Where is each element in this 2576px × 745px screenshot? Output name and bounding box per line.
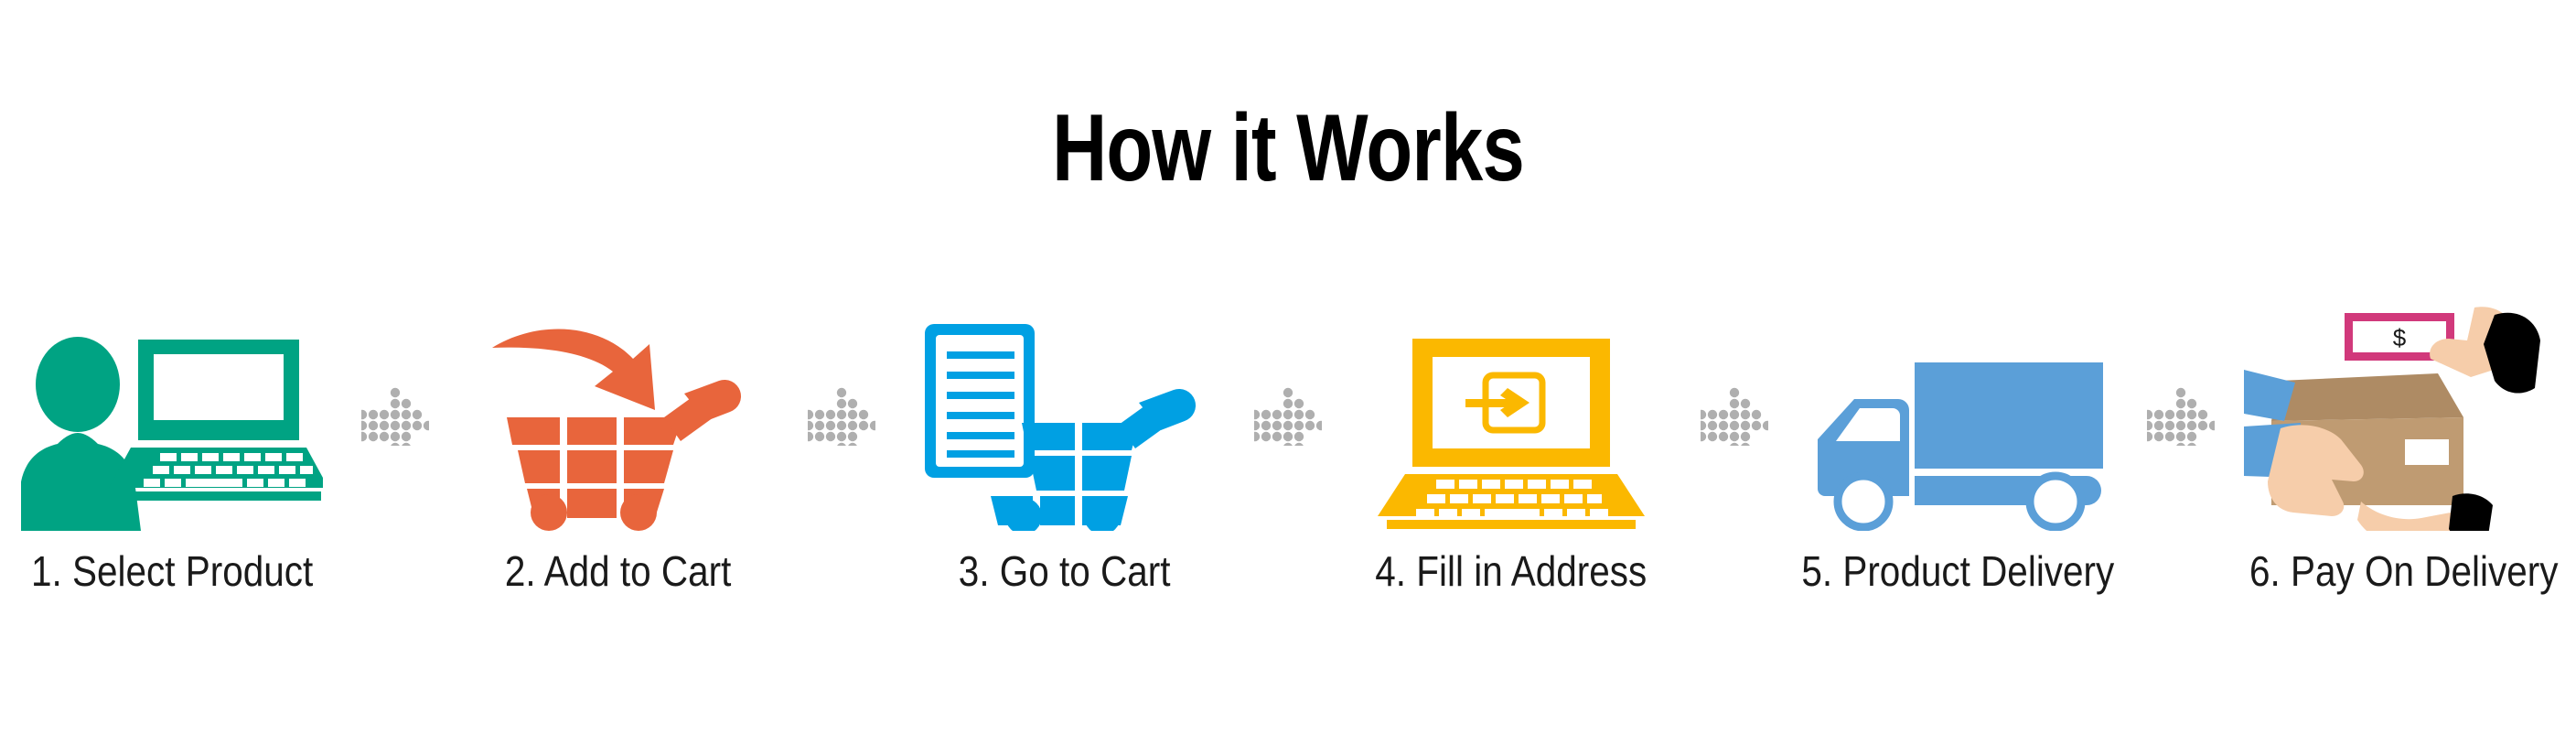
step-label: 3. Go to Cart xyxy=(959,547,1171,595)
delivery-truck-icon xyxy=(1778,302,2137,531)
page-title: How it Works xyxy=(258,101,2319,196)
step-label: 5. Product Delivery xyxy=(1801,547,2114,595)
dotted-arrow-right-icon xyxy=(1244,302,1332,531)
step-label: 2. Add to Cart xyxy=(505,547,732,595)
dotted-arrow-right-icon xyxy=(798,302,885,531)
step-2-add-to-cart[interactable]: 2. Add to Cart xyxy=(439,302,798,632)
dotted-arrow-right-icon xyxy=(2137,302,2225,531)
step-label: 6. Pay On Delivery xyxy=(2249,547,2558,595)
step-label: 1. Select Product xyxy=(31,547,313,595)
steps-strip: 1. Select Product xyxy=(0,302,2576,632)
person-laptop-icon xyxy=(0,302,351,531)
infographic-page: How it Works xyxy=(0,0,2576,745)
step-1-select-product[interactable]: 1. Select Product xyxy=(0,302,351,632)
step-6-pay-on-delivery[interactable]: $ xyxy=(2225,302,2576,632)
dotted-arrow-right-icon xyxy=(351,302,439,531)
step-4-fill-in-address[interactable]: 4. Fill in Address xyxy=(1332,302,1690,632)
dollar-symbol: $ xyxy=(2393,324,2407,351)
step-3-go-to-cart[interactable]: 3. Go to Cart xyxy=(885,302,1244,632)
step-5-product-delivery[interactable]: 5. Product Delivery xyxy=(1778,302,2137,632)
hands-box-money-icon: $ xyxy=(2225,302,2576,531)
step-label: 4. Fill in Address xyxy=(1375,547,1647,595)
laptop-submit-icon xyxy=(1332,302,1690,531)
document-cart-icon xyxy=(885,302,1244,531)
dotted-arrow-right-icon xyxy=(1690,302,1778,531)
cart-with-arrow-icon xyxy=(439,302,798,531)
